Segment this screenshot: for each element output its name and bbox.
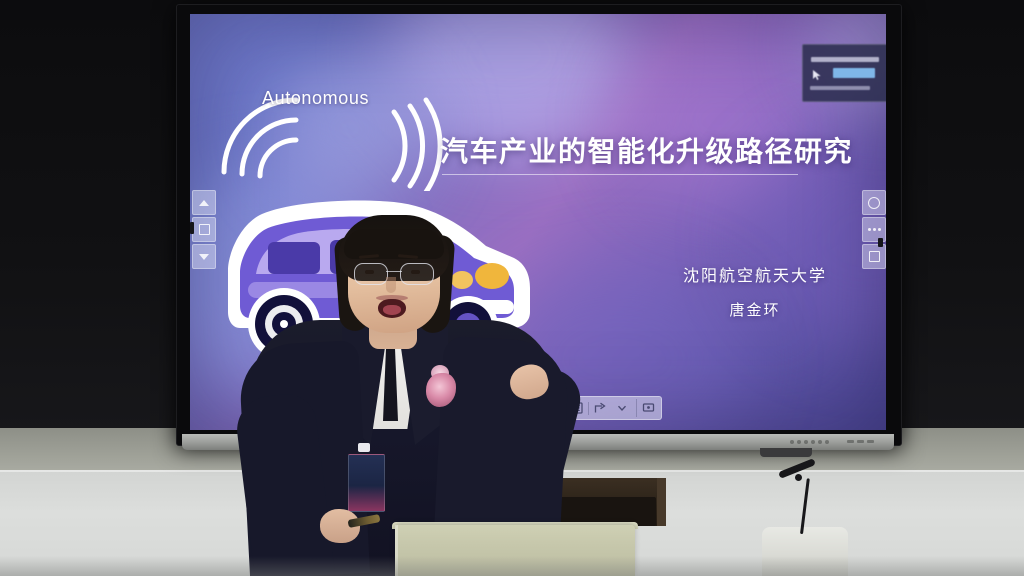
- presenter-name: 唐金环: [630, 299, 880, 320]
- screen-button[interactable]: [636, 399, 659, 417]
- page-indicator-button[interactable]: [192, 217, 216, 242]
- page-up-button[interactable]: [192, 190, 216, 215]
- chair-post: [657, 478, 666, 526]
- left-strip-handle[interactable]: [190, 222, 194, 234]
- eye-right: [411, 270, 420, 274]
- left-control-strip[interactable]: [192, 190, 214, 269]
- page-down-button[interactable]: [192, 244, 216, 269]
- expand-button[interactable]: [611, 399, 633, 417]
- hair-fringe: [344, 229, 444, 259]
- tongue: [383, 305, 401, 315]
- window-button[interactable]: [862, 244, 886, 269]
- lens-right: [400, 263, 434, 285]
- right-control-strip[interactable]: [862, 190, 884, 269]
- chevron-down-icon: [616, 402, 628, 414]
- dialog-confirm-button[interactable]: [833, 68, 875, 78]
- share-button[interactable]: [589, 399, 611, 417]
- floor-shadow: [0, 556, 1024, 576]
- display-foot: [760, 448, 812, 457]
- lens-left: [354, 263, 388, 285]
- name-badge: [348, 454, 385, 512]
- photo-scene: Autonomous: [0, 0, 1024, 576]
- cursor-icon: [811, 69, 823, 81]
- share-icon: [594, 402, 607, 414]
- microphone-joint: [795, 474, 802, 481]
- badge-clip: [358, 443, 370, 452]
- page-title: 汽车产业的智能化升级路径研究: [440, 130, 880, 170]
- autonomous-logo-text: Autonomous: [262, 88, 369, 109]
- popup-dialog[interactable]: [802, 44, 886, 102]
- glasses-bridge: [386, 271, 402, 272]
- monitor-icon: [642, 402, 655, 414]
- right-strip-handle[interactable]: [878, 238, 883, 247]
- display-brand-logo: [790, 437, 888, 446]
- refresh-button[interactable]: [862, 190, 886, 215]
- nose: [386, 277, 396, 293]
- dialog-title-bar: [811, 57, 879, 62]
- title-underline: [442, 174, 798, 175]
- eye-left: [365, 270, 374, 274]
- dialog-footer-text: [810, 86, 870, 90]
- affiliation-text: 沈阳航空航天大学: [630, 262, 880, 286]
